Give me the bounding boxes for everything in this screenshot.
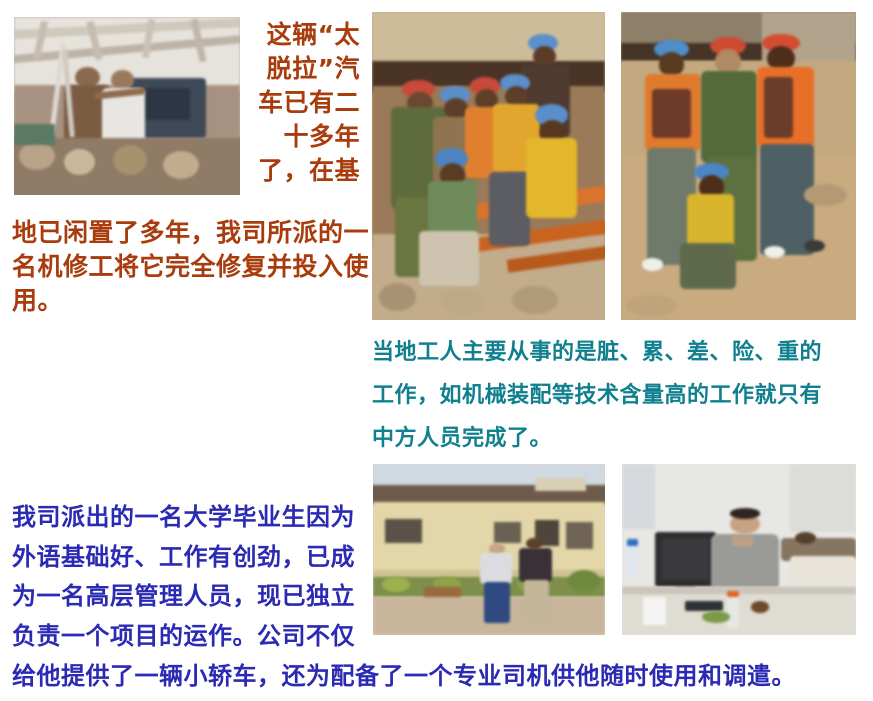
paragraph-red-column-narrow: 这辆“太 脱拉”汽 车已有二 十多年 了，在基 bbox=[248, 18, 360, 188]
teal-line-3: 中方人员完成了。 bbox=[372, 417, 867, 460]
red-line-2: 脱拉”汽 bbox=[248, 52, 360, 86]
photo-truck-repair bbox=[14, 17, 240, 195]
paragraph-red-column-wide: 地已闲置了多年，我司所派的一 名机修工将它完全修复并投入使 用。 bbox=[12, 216, 362, 318]
photo-workers-group-seated bbox=[372, 12, 605, 320]
teal-line-1: 当地工人主要从事的是脏、累、差、险、重的 bbox=[372, 331, 867, 374]
red-line-8: 用。 bbox=[12, 284, 362, 318]
photo-office-desk bbox=[622, 464, 856, 635]
blue-line-5: 给他提供了一辆小轿车，还为配备了一个专业司机供他随时使用和调遣。 bbox=[12, 657, 867, 697]
red-line-1: 这辆“太 bbox=[248, 18, 360, 52]
red-line-7: 名机修工将它完全修复并投入使 bbox=[12, 250, 362, 284]
blue-line-1: 我司派出的一名大学毕业生因为 bbox=[12, 498, 362, 538]
photo-workers-group-standing bbox=[621, 12, 856, 320]
teal-line-2: 工作，如机械装配等技术含量高的工作就只有 bbox=[372, 374, 867, 417]
blue-line-2: 外语基础好、工作有创劲，已成 bbox=[12, 538, 362, 578]
red-line-3: 车已有二 bbox=[248, 86, 360, 120]
red-line-6: 地已闲置了多年，我司所派的一 bbox=[12, 216, 362, 250]
blue-line-3: 为一名高层管理人员，现已独立 bbox=[12, 577, 362, 617]
red-line-5: 了，在基 bbox=[248, 154, 360, 188]
paragraph-blue-column-narrow: 我司派出的一名大学毕业生因为 外语基础好、工作有创劲，已成 为一名高层管理人员，… bbox=[12, 498, 362, 656]
paragraph-teal: 当地工人主要从事的是脏、累、差、险、重的 工作，如机械装配等技术含量高的工作就只… bbox=[372, 331, 867, 460]
paragraph-blue-final-line: 给他提供了一辆小轿车，还为配备了一个专业司机供他随时使用和调遣。 bbox=[12, 657, 867, 697]
red-line-4: 十多年 bbox=[248, 120, 360, 154]
photo-house-exterior bbox=[373, 464, 605, 635]
blue-line-4: 负责一个项目的运作。公司不仅 bbox=[12, 617, 362, 657]
